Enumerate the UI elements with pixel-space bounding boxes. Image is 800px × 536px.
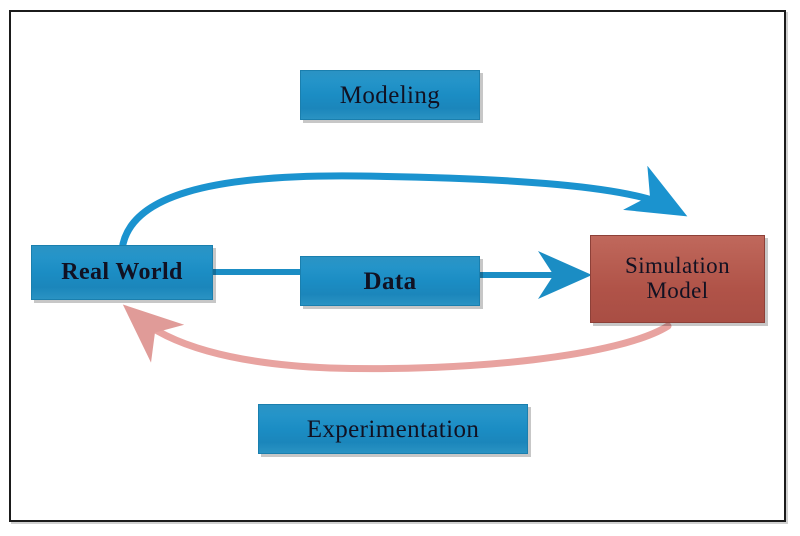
node-simulation-model-label-line1: Simulation: [625, 254, 730, 279]
node-simulation-model-label-line2: Model: [625, 279, 730, 304]
node-simulation-model-label: Simulation Model: [625, 254, 730, 304]
node-experimentation-label: Experimentation: [307, 416, 480, 443]
node-modeling-label: Modeling: [340, 82, 440, 109]
node-modeling[interactable]: Modeling: [300, 70, 480, 120]
diagram-screenshot: Modeling Real World Data Simulation Mode…: [0, 0, 800, 536]
node-simulation-model[interactable]: Simulation Model: [590, 235, 765, 323]
node-real-world[interactable]: Real World: [31, 245, 213, 300]
node-data[interactable]: Data: [300, 256, 480, 306]
node-experimentation[interactable]: Experimentation: [258, 404, 528, 454]
node-data-label: Data: [364, 268, 417, 295]
node-real-world-label: Real World: [61, 260, 183, 286]
